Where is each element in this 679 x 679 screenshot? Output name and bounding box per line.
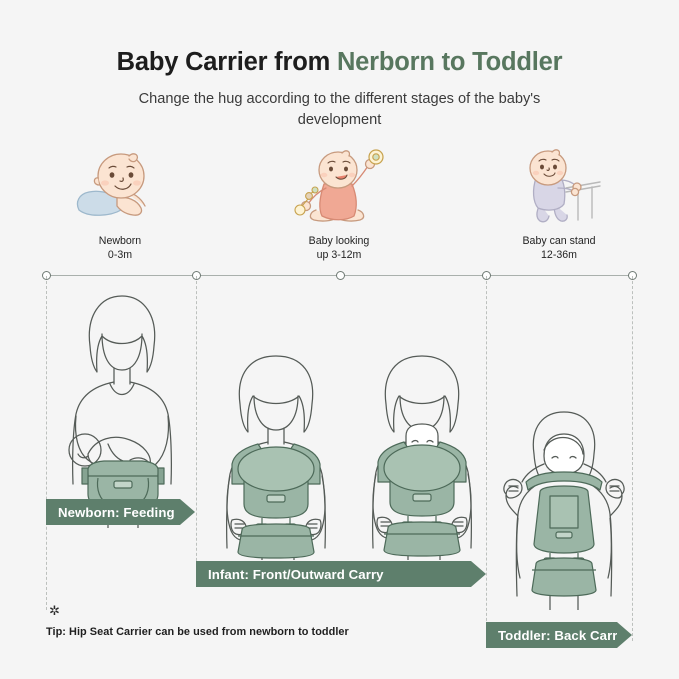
stage-label-baby-looking-up: Baby looking up 3-12m [264, 234, 414, 263]
banner-infant-front-outward-carry: Infant: Front/Outward Carry [196, 561, 471, 587]
banner-toddler-back-carry: Toddler: Back Carry [486, 622, 617, 648]
stage-item-baby-can-stand: Baby can stand 12-36m [484, 148, 634, 263]
illustration-infant-outward-carry [350, 352, 496, 560]
stage-icons-row: Newborn 0-3m [0, 148, 679, 266]
illustration-toddler-back-carry [496, 410, 632, 610]
banner-newborn-feeding-label: Newborn: Feeding [46, 505, 175, 520]
banner-arrow-icon [180, 499, 195, 525]
banner-toddler-back-carry-label: Toddler: Back Carry [486, 628, 625, 643]
stage-item-baby-looking-up: Baby looking up 3-12m [264, 148, 414, 263]
sitting-baby-with-rattle-icon [264, 148, 414, 226]
banner-arrow-icon [617, 622, 632, 648]
page-title: Baby Carrier from Nerborn to Toddler [0, 0, 679, 76]
stage-label-baby-can-stand: Baby can stand 12-36m [484, 234, 634, 263]
page-title-accent: Nerborn to Toddler [337, 48, 562, 76]
stage-label-newborn: Newborn 0-3m [45, 234, 195, 263]
illustration-infant-front-carry [204, 352, 350, 560]
page-subtitle: Change the hug according to the differen… [100, 76, 580, 130]
tip-text: Tip: Hip Seat Carrier can be used from n… [46, 626, 466, 638]
asterisk-icon: ✲ [46, 604, 466, 617]
banner-newborn-feeding: Newborn: Feeding [46, 499, 180, 525]
illustration-newborn-feeding [52, 288, 192, 528]
header: Baby Carrier from Nerborn to Toddler Cha… [0, 0, 679, 130]
crawling-baby-icon [45, 148, 195, 226]
standing-baby-icon [484, 148, 634, 226]
tip-note: ✲ Tip: Hip Seat Carrier can be used from… [46, 604, 466, 638]
banner-arrow-icon [471, 561, 486, 587]
stage-item-newborn: Newborn 0-3m [45, 148, 195, 263]
page-title-main: Baby Carrier from [117, 48, 337, 76]
banner-infant-front-outward-carry-label: Infant: Front/Outward Carry [196, 567, 384, 582]
